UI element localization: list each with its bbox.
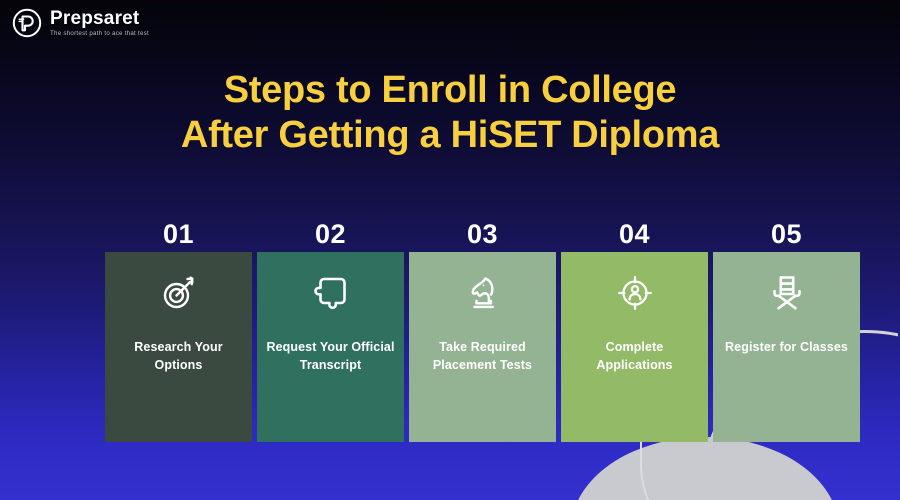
step-card-2: Request Your Official Transcript <box>257 252 404 442</box>
step-label-3: Take Required Placement Tests <box>409 338 556 374</box>
step-item-1: 01 Research Your Options <box>105 212 252 442</box>
step-number-5: 05 <box>713 212 860 252</box>
step-number-1: 01 <box>105 212 252 252</box>
step-number-2: 02 <box>257 212 404 252</box>
director-chair-icon <box>766 272 808 314</box>
target-arrow-icon <box>158 272 200 314</box>
step-item-3: 03 Take Required Placement Tests <box>409 212 556 442</box>
brand-name: Prepsaret <box>50 9 149 28</box>
step-number-4: 04 <box>561 212 708 252</box>
decorative-seam-line <box>640 440 760 500</box>
steps-row: 01 Research Your Options 02 <box>105 212 860 442</box>
step-card-1: Research Your Options <box>105 252 252 442</box>
page-title-line-1: Steps to Enroll in College <box>0 68 900 113</box>
step-item-5: 05 Register for Classes <box>713 212 860 442</box>
prepsaret-circle-p-logo-icon <box>12 8 42 38</box>
step-item-2: 02 Request Your Official Transcript <box>257 212 404 442</box>
step-card-3: Take Required Placement Tests <box>409 252 556 442</box>
puzzle-piece-icon <box>310 272 352 314</box>
step-label-1: Research Your Options <box>105 338 252 374</box>
step-label-4: Complete Applications <box>561 338 708 374</box>
page-title-line-2: After Getting a HiSET Diploma <box>0 113 900 158</box>
step-card-4: Complete Applications <box>561 252 708 442</box>
chess-knight-icon <box>462 272 504 314</box>
step-label-2: Request Your Official Transcript <box>257 338 404 374</box>
brand-tagline: The shortest path to ace that test <box>50 31 149 37</box>
step-number-3: 03 <box>409 212 556 252</box>
brand-logo: Prepsaret The shortest path to ace that … <box>12 8 149 38</box>
step-item-4: 04 Complete Applications <box>561 212 708 442</box>
person-target-icon <box>614 272 656 314</box>
step-card-5: Register for Classes <box>713 252 860 442</box>
step-label-5: Register for Classes <box>717 338 856 356</box>
brand-text: Prepsaret The shortest path to ace that … <box>50 9 149 37</box>
page-title: Steps to Enroll in College After Getting… <box>0 68 900 158</box>
infographic-poster: Prepsaret The shortest path to ace that … <box>0 0 900 500</box>
